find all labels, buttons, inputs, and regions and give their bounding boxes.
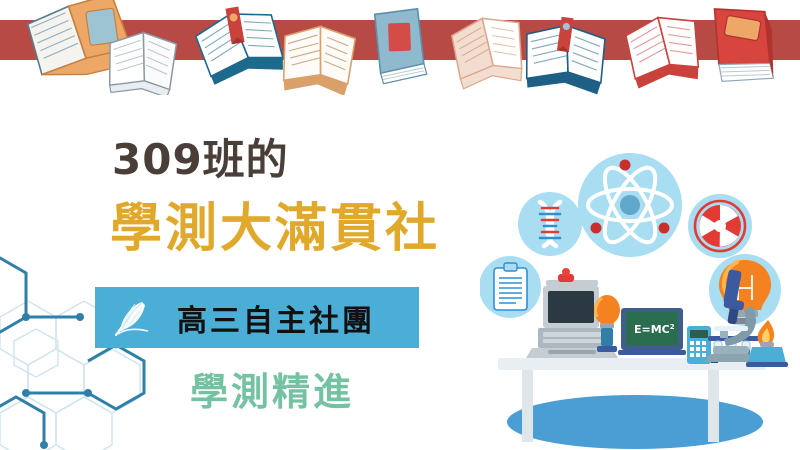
book-illustrations bbox=[0, 0, 800, 95]
banner-label: 高三自主社團 bbox=[177, 296, 375, 340]
book-closed-red bbox=[702, 3, 784, 90]
club-title: 學測大滿貫社 bbox=[110, 203, 440, 255]
badge-dna bbox=[518, 192, 582, 256]
badge-atom bbox=[578, 153, 682, 257]
book-closed-blue bbox=[368, 4, 434, 88]
quill-pen-icon bbox=[109, 295, 155, 341]
badge-radiation bbox=[688, 194, 752, 258]
club-type-banner[interactable]: 高三自主社團 bbox=[95, 287, 419, 348]
poster-canvas: 309班的 學測大滿貫社 高三自主社團 學測精進 bbox=[0, 0, 800, 450]
book-open-cream bbox=[278, 22, 356, 95]
equation-blackboard: E=MC2 bbox=[618, 308, 686, 355]
class-label: 309班的 bbox=[112, 139, 289, 181]
book-open-red bbox=[624, 13, 702, 89]
badge-clipboard bbox=[480, 256, 541, 318]
book-open-navy-bookmark bbox=[520, 12, 610, 95]
hexagon-tech-pattern bbox=[0, 255, 170, 450]
science-lab-illustration: E=MC2 bbox=[480, 150, 800, 450]
floor-shadow bbox=[507, 395, 763, 449]
blackboard-equation: E=MC2 bbox=[634, 323, 675, 336]
book-open-blue-bookmark bbox=[192, 0, 285, 86]
bench-leg-left bbox=[522, 370, 533, 442]
book-open-peach bbox=[450, 15, 525, 90]
badge-lightbulb bbox=[709, 254, 781, 326]
subtitle: 學測精進 bbox=[190, 373, 354, 411]
bench-leg-right bbox=[708, 370, 719, 442]
